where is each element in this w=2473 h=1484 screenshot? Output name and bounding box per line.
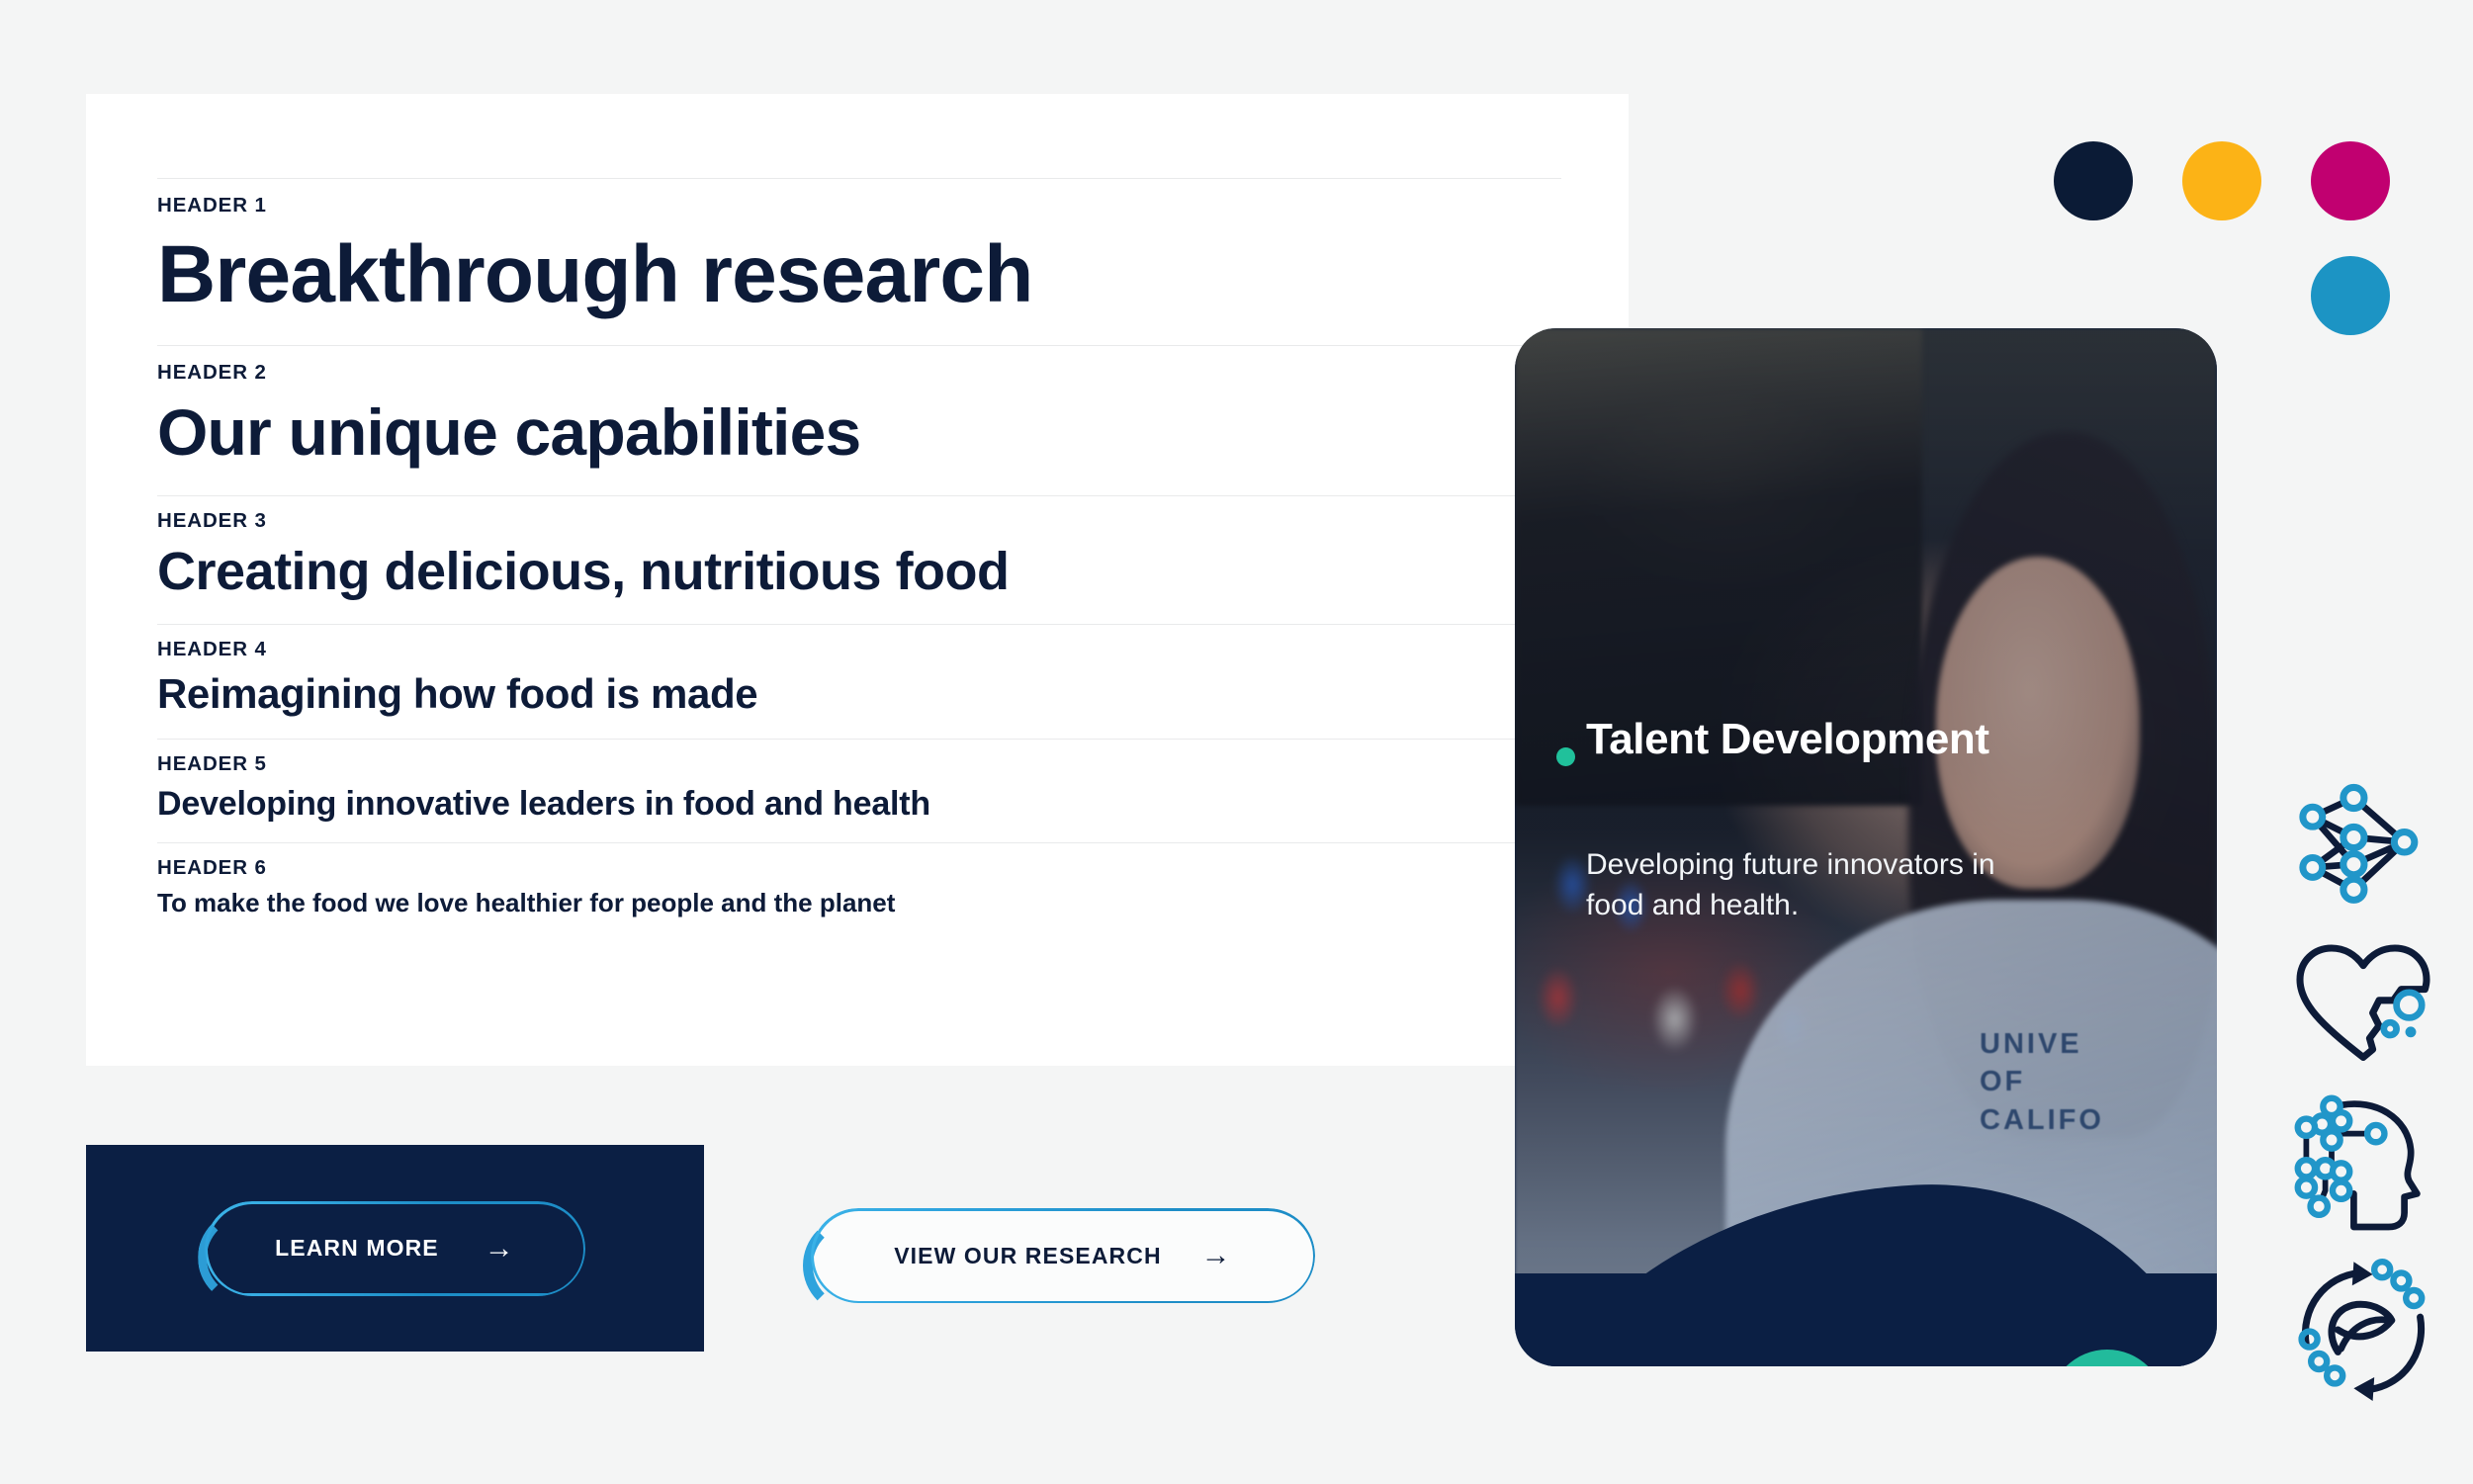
header-row: HEADER 3 Creating delicious, nutritious …: [157, 495, 1561, 602]
color-swatch-amber: [2182, 141, 2261, 220]
header-sample-2: Our unique capabilities: [157, 396, 1561, 470]
learn-more-label: LEARN MORE: [275, 1235, 439, 1262]
header-eyebrow-6: HEADER 6: [157, 857, 1561, 880]
sustainability-leaf-cycle-icon: [2284, 1251, 2442, 1409]
lab-coat-logo-text: UNIVEOFCALIFO: [1980, 1025, 2217, 1139]
card-bullet-dot: [1556, 747, 1575, 766]
header-row: HEADER 6 To make the food we love health…: [157, 842, 1561, 917]
learn-more-button[interactable]: LEARN MORE →: [205, 1201, 585, 1296]
talent-development-card[interactable]: UNIVEOFCALIFO Talent Development Develop…: [1515, 328, 2217, 1366]
header-eyebrow-3: HEADER 3: [157, 510, 1561, 533]
header-row: HEADER 4 Reimagining how food is made: [157, 624, 1561, 718]
color-swatch-navy: [2054, 141, 2133, 220]
arrow-right-icon: →: [485, 1234, 515, 1264]
heart-molecule-icon: [2284, 924, 2442, 1083]
color-swatch-blue: [2311, 256, 2390, 335]
arrow-right-icon: →: [1201, 1241, 1232, 1270]
color-swatch-magenta: [2311, 141, 2390, 220]
ai-head-circuit-icon: [2284, 1092, 2442, 1251]
header-eyebrow-2: HEADER 2: [157, 362, 1561, 385]
header-row: HEADER 1 Breakthrough research: [157, 178, 1561, 319]
header-sample-1: Breakthrough research: [157, 229, 1561, 320]
header-eyebrow-1: HEADER 1: [157, 195, 1561, 218]
view-our-research-label: VIEW OUR RESEARCH: [894, 1243, 1161, 1269]
header-sample-3: Creating delicious, nutritious food: [157, 542, 1561, 601]
typography-scale-panel: HEADER 1 Breakthrough research HEADER 2 …: [86, 94, 1629, 1066]
primary-button-block: LEARN MORE →: [86, 1145, 704, 1352]
header-eyebrow-5: HEADER 5: [157, 753, 1561, 776]
neural-network-icon: [2284, 766, 2442, 924]
header-eyebrow-4: HEADER 4: [157, 639, 1561, 661]
card-description: Developing future innovators in food and…: [1586, 844, 2001, 926]
card-title: Talent Development: [1586, 714, 2011, 765]
header-row: HEADER 2 Our unique capabilities: [157, 345, 1561, 469]
view-our-research-button[interactable]: VIEW OUR RESEARCH →: [811, 1208, 1315, 1303]
view-research-button-wrap: VIEW OUR RESEARCH →: [811, 1208, 1315, 1303]
style-guide-canvas: HEADER 1 Breakthrough research HEADER 2 …: [0, 0, 2473, 1484]
header-sample-4: Reimagining how food is made: [157, 670, 1561, 717]
header-row: HEADER 5 Developing innovative leaders i…: [157, 739, 1561, 823]
header-rows-list: HEADER 1 Breakthrough research HEADER 2 …: [157, 178, 1561, 937]
header-sample-5: Developing innovative leaders in food an…: [157, 785, 1561, 823]
header-sample-6: To make the food we love healthier for p…: [157, 889, 1561, 917]
